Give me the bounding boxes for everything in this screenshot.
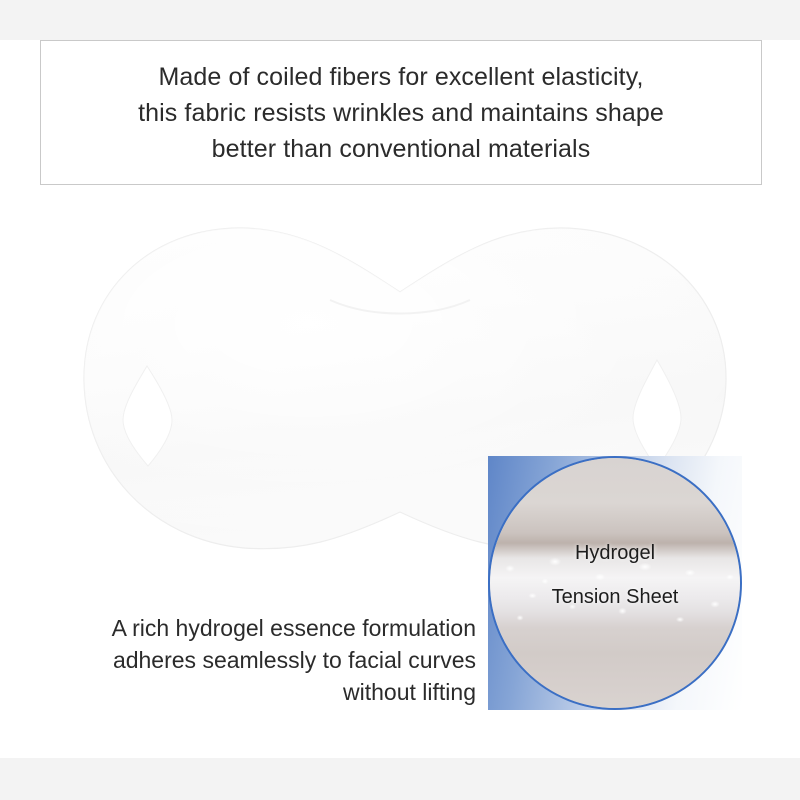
inset-label-tension-sheet: Tension Sheet xyxy=(552,586,679,608)
inset-circle-frame: Hydrogel Tension Sheet xyxy=(488,456,742,710)
header-caption-text: Made of coiled fibers for excellent elas… xyxy=(138,59,664,167)
header-caption-box: Made of coiled fibers for excellent elas… xyxy=(40,40,762,185)
inset-label-hydrogel: Hydrogel xyxy=(575,542,655,564)
bottom-caption-text: A rich hydrogel essence formulation adhe… xyxy=(46,612,476,708)
bottom-background-strip xyxy=(0,758,800,800)
macro-detail-inset: Hydrogel Tension Sheet xyxy=(488,456,742,710)
inset-label-group: Hydrogel Tension Sheet xyxy=(490,458,740,708)
product-detail-page: Made of coiled fibers for excellent elas… xyxy=(0,0,800,800)
